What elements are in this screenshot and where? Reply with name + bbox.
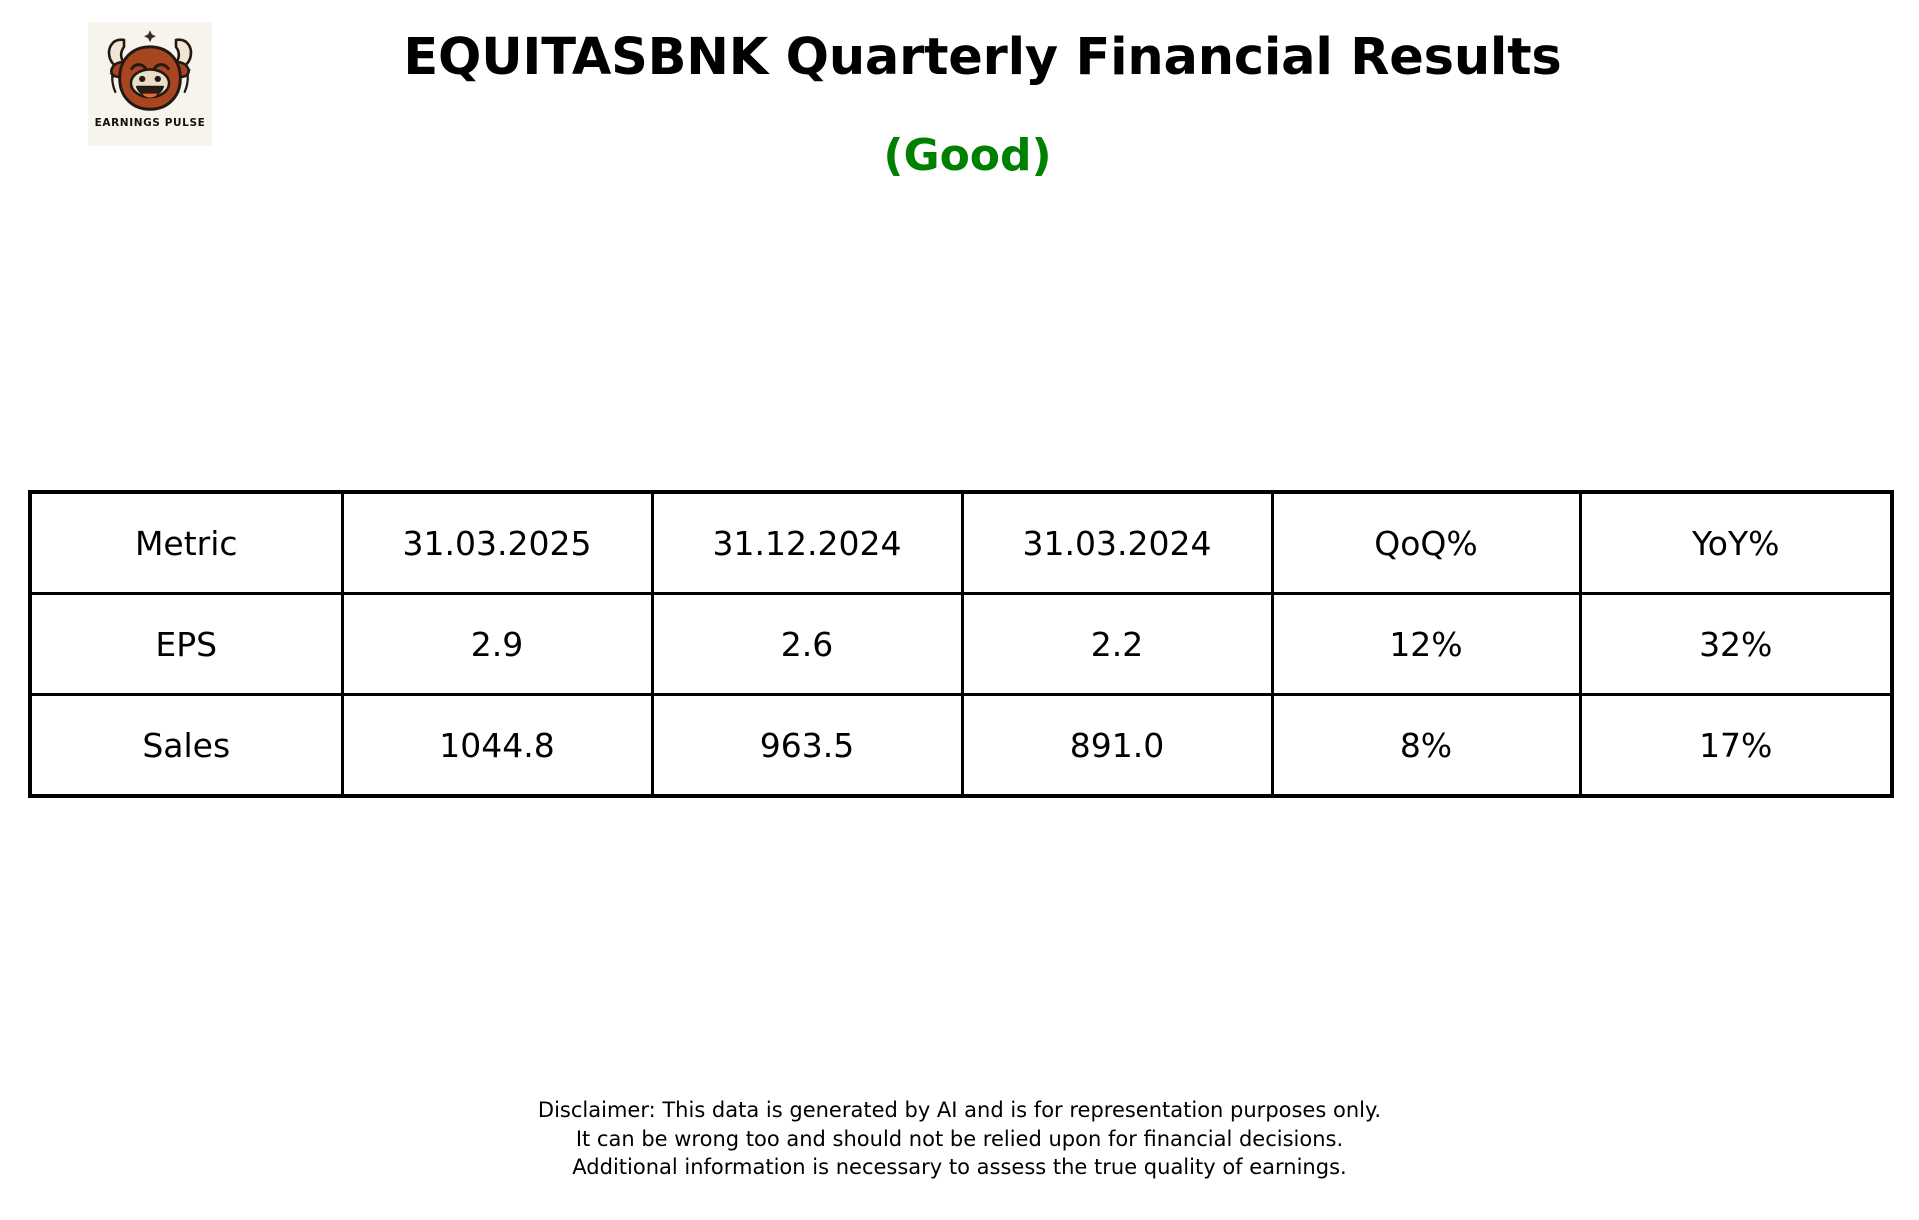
column-header-metric: Metric (30, 492, 342, 594)
cell-sales-yoy: 17% (1580, 695, 1892, 797)
disclaimer-line-2: It can be wrong too and should not be re… (0, 1125, 1919, 1154)
cell-eps-qoq: 12% (1272, 594, 1580, 695)
cell-eps-period-1: 2.9 (342, 594, 652, 695)
financial-results-table: Metric 31.03.2025 31.12.2024 31.03.2024 … (28, 490, 1894, 798)
quality-verdict-badge: (Good) (16, 130, 1919, 181)
page-title: EQUITASBNK Quarterly Financial Results (46, 30, 1919, 86)
disclaimer: Disclaimer: This data is generated by AI… (0, 1096, 1919, 1182)
column-header-yoy: YoY% (1580, 492, 1892, 594)
row-label-eps: EPS (30, 594, 342, 695)
disclaimer-line-3: Additional information is necessary to a… (0, 1153, 1919, 1182)
column-header-period-1: 31.03.2025 (342, 492, 652, 594)
header-block: EQUITASBNK Quarterly Financial Results (… (0, 30, 1919, 181)
table-header-row: Metric 31.03.2025 31.12.2024 31.03.2024 … (30, 492, 1892, 594)
cell-sales-qoq: 8% (1272, 695, 1580, 797)
cell-sales-period-3: 891.0 (962, 695, 1272, 797)
brand-logo: EARNINGS PULSE (88, 22, 212, 146)
cell-eps-period-2: 2.6 (652, 594, 962, 695)
cell-sales-period-2: 963.5 (652, 695, 962, 797)
column-header-period-3: 31.03.2024 (962, 492, 1272, 594)
logo-wordmark: EARNINGS PULSE (95, 117, 206, 129)
table-row: EPS 2.9 2.6 2.2 12% 32% (30, 594, 1892, 695)
row-label-sales: Sales (30, 695, 342, 797)
disclaimer-line-1: Disclaimer: This data is generated by AI… (0, 1096, 1919, 1125)
cell-eps-yoy: 32% (1580, 594, 1892, 695)
column-header-qoq: QoQ% (1272, 492, 1580, 594)
bull-mascot-icon (98, 24, 202, 120)
cell-eps-period-3: 2.2 (962, 594, 1272, 695)
table-row: Sales 1044.8 963.5 891.0 8% 17% (30, 695, 1892, 797)
cell-sales-period-1: 1044.8 (342, 695, 652, 797)
column-header-period-2: 31.12.2024 (652, 492, 962, 594)
